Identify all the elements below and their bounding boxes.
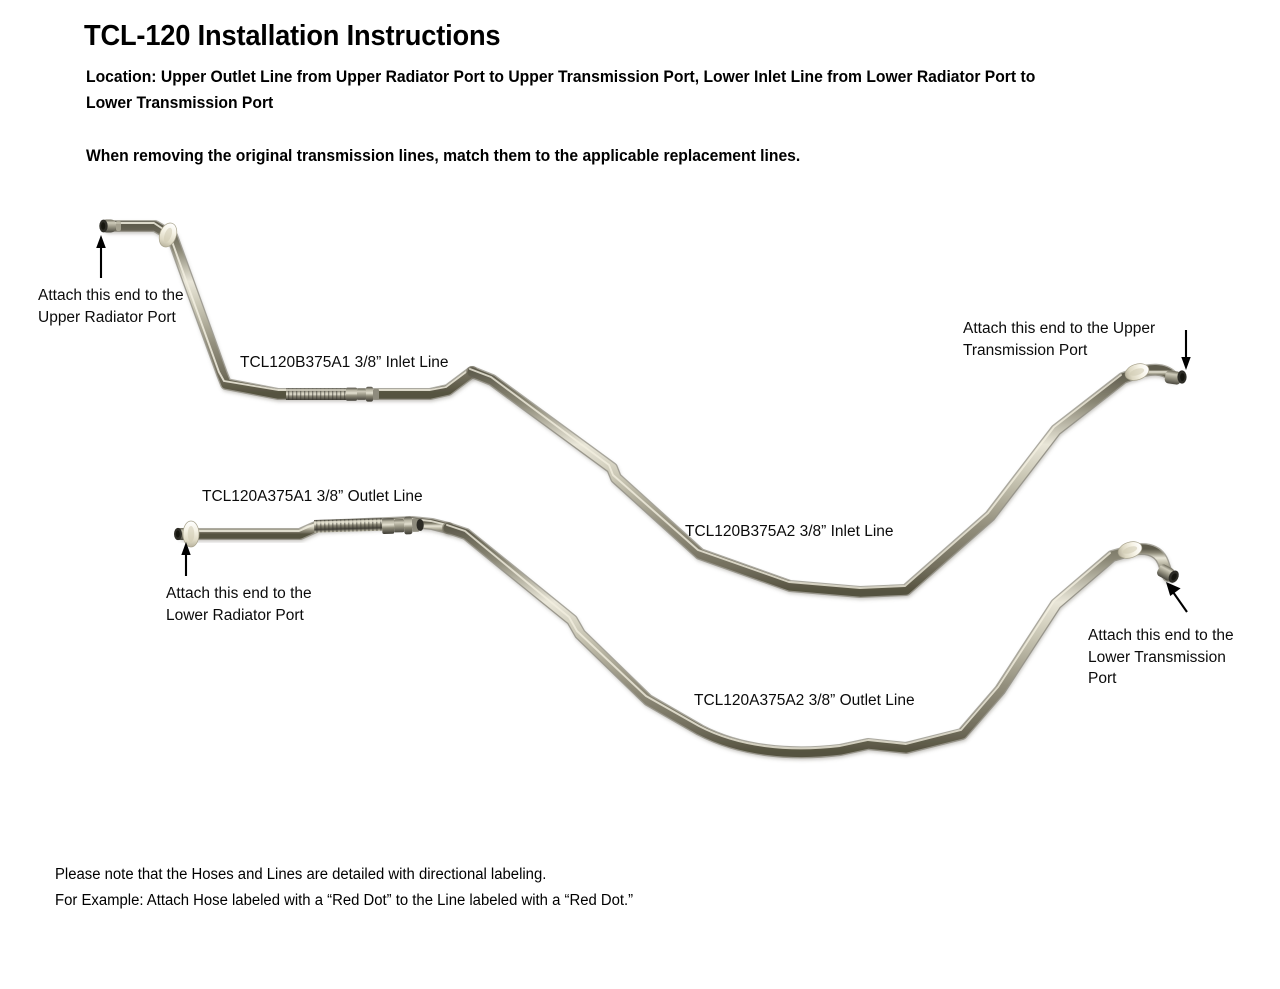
transmission-line-diagram xyxy=(0,0,1280,989)
fitting-upper-radiator-end xyxy=(99,220,121,233)
tube-outlet-line-2 xyxy=(447,525,1168,752)
tube-inlet-line-1 xyxy=(108,223,472,394)
union-coupling-outlet-line-1 xyxy=(314,516,424,535)
instruction-sheet: TCL-120 Installation Instructions Locati… xyxy=(0,0,1280,989)
union-coupling-inlet-line-1 xyxy=(286,387,379,402)
arrow-upper-radiator xyxy=(96,235,106,278)
clip-ring-outlet-line-1 xyxy=(183,521,199,547)
arrow-upper-transmission xyxy=(1181,330,1190,370)
fitting-upper-transmission-end xyxy=(1164,370,1186,385)
arrow-lower-radiator xyxy=(181,542,190,576)
arrow-lower-transmission xyxy=(1166,582,1187,612)
tube-inlet-line-2 xyxy=(470,369,1172,592)
